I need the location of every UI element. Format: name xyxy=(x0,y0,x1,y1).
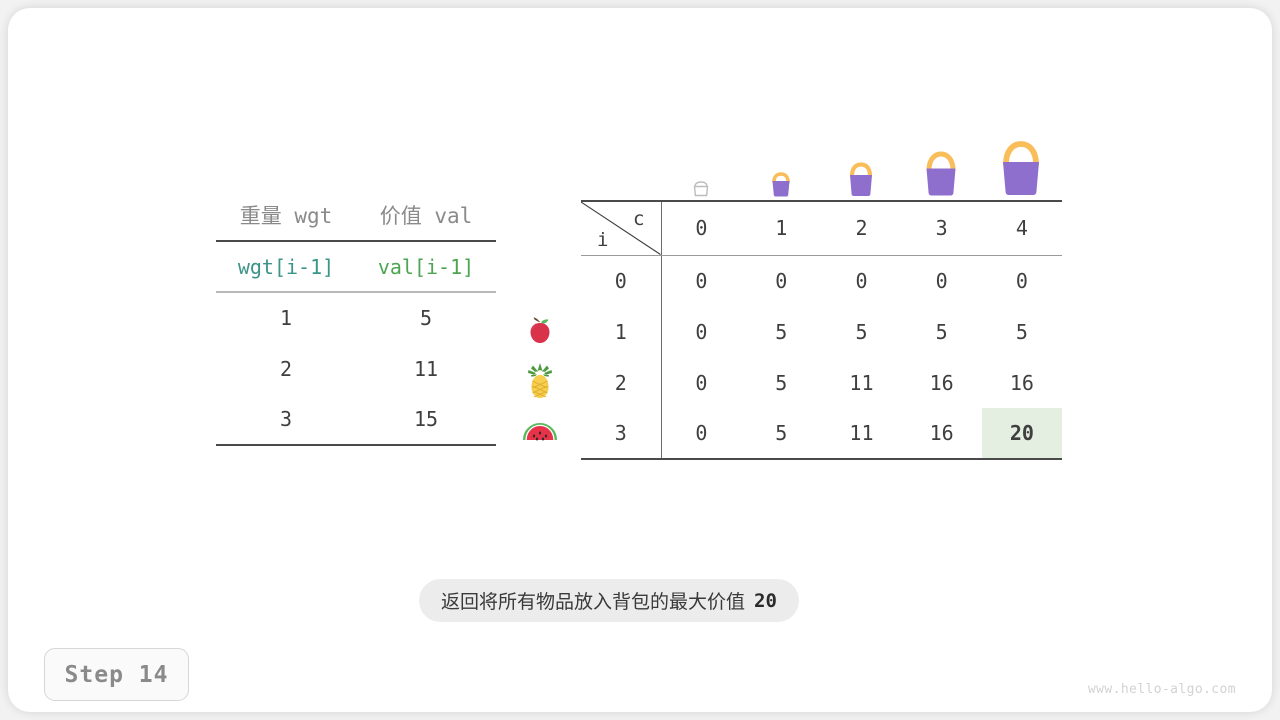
fruit-slot-3 xyxy=(514,406,566,457)
dp-cell-3-3: 16 xyxy=(902,408,982,459)
dp-corner-col-label: c xyxy=(633,208,644,230)
dp-cell-2-3: 16 xyxy=(902,357,982,408)
fruit-slot-2 xyxy=(514,355,566,406)
dp-col-header-2: 2 xyxy=(821,201,901,255)
item-val-2: 11 xyxy=(356,343,496,394)
watermelon-icon xyxy=(521,419,559,445)
dp-col-header-0: 0 xyxy=(661,201,741,255)
item-table-index-wgt: wgt[i-1] xyxy=(216,241,356,292)
bag-slot-3 xyxy=(901,142,981,198)
dp-corner-cell: c i xyxy=(581,201,661,255)
item-wgt-2: 2 xyxy=(216,343,356,394)
dp-cell-2-4: 16 xyxy=(982,357,1062,408)
bag-icon xyxy=(837,154,885,198)
item-table: 重量 wgt 价值 val wgt[i-1] val[i-1] 1 5 2 11… xyxy=(216,190,496,446)
dp-row-header-1: 1 xyxy=(581,306,661,357)
watermark: www.hello-algo.com xyxy=(1088,682,1236,697)
bag-slot-0 xyxy=(661,178,741,198)
table-row: 1 5 xyxy=(216,292,496,343)
dp-cell-3-0: 0 xyxy=(661,408,741,459)
dp-row-header-2: 2 xyxy=(581,357,661,408)
dp-cell-0-3: 0 xyxy=(902,255,982,306)
dp-cell-1-3: 5 xyxy=(902,306,982,357)
table-row: 2 0 5 11 16 16 xyxy=(581,357,1062,408)
dp-cell-2-2: 11 xyxy=(821,357,901,408)
bag-icon xyxy=(762,164,800,198)
item-icon-column xyxy=(514,304,566,457)
dp-corner-row-label: i xyxy=(597,229,608,251)
item-val-3: 15 xyxy=(356,394,496,445)
dp-cell-3-2: 11 xyxy=(821,408,901,459)
item-table-header-row: 重量 wgt 价值 val xyxy=(216,190,496,241)
table-row: 0 0 0 0 0 0 xyxy=(581,255,1062,306)
dp-cell-0-4: 0 xyxy=(982,255,1062,306)
dp-cell-1-0: 0 xyxy=(661,306,741,357)
bag-slot-2 xyxy=(821,154,901,198)
dp-cell-1-1: 5 xyxy=(741,306,821,357)
table-row: 3 0 5 11 16 20 xyxy=(581,408,1062,459)
result-caption: 返回将所有物品放入背包的最大价值 20 xyxy=(419,579,799,622)
fruit-slot-1 xyxy=(514,304,566,355)
diagram-canvas: 重量 wgt 价值 val wgt[i-1] val[i-1] 1 5 2 11… xyxy=(8,8,1272,712)
capacity-bag-row xyxy=(661,126,1062,198)
result-caption-text: 返回将所有物品放入背包的最大价值 xyxy=(441,587,745,614)
bag-slot-1 xyxy=(741,164,821,198)
bag-slot-4 xyxy=(981,130,1061,198)
item-table-header-wgt: 重量 wgt xyxy=(216,190,356,241)
item-wgt-3: 3 xyxy=(216,394,356,445)
bag-icon xyxy=(911,142,971,198)
dp-cell-1-2: 5 xyxy=(821,306,901,357)
dp-cell-0-1: 0 xyxy=(741,255,821,306)
dp-row-header-3: 3 xyxy=(581,408,661,459)
table-row: 3 15 xyxy=(216,394,496,445)
result-caption-value: 20 xyxy=(754,590,777,612)
bag-icon xyxy=(985,130,1057,198)
dp-row-header-0: 0 xyxy=(581,255,661,306)
dp-table: c i 0 1 2 3 4 0 0 0 0 0 0 1 0 5 xyxy=(581,200,1062,460)
dp-cell-0-0: 0 xyxy=(661,255,741,306)
dp-cell-2-0: 0 xyxy=(661,357,741,408)
item-val-1: 5 xyxy=(356,292,496,343)
pineapple-icon xyxy=(523,362,557,400)
step-badge: Step 14 xyxy=(44,648,189,701)
dp-table-header-row: c i 0 1 2 3 4 xyxy=(581,201,1062,255)
step-badge-label: Step 14 xyxy=(65,662,169,688)
dp-cell-3-4-highlighted: 20 xyxy=(982,408,1062,459)
item-table-index-val: val[i-1] xyxy=(356,241,496,292)
dp-col-header-3: 3 xyxy=(902,201,982,255)
table-row: 1 0 5 5 5 5 xyxy=(581,306,1062,357)
bag-empty-icon xyxy=(690,178,712,198)
dp-cell-1-4: 5 xyxy=(982,306,1062,357)
dp-cell-2-1: 5 xyxy=(741,357,821,408)
dp-cell-0-2: 0 xyxy=(821,255,901,306)
dp-cell-3-1: 5 xyxy=(741,408,821,459)
item-wgt-1: 1 xyxy=(216,292,356,343)
dp-col-header-4: 4 xyxy=(982,201,1062,255)
item-table-header-val: 价值 val xyxy=(356,190,496,241)
dp-col-header-1: 1 xyxy=(741,201,821,255)
apple-icon xyxy=(523,313,557,347)
item-table-index-row: wgt[i-1] val[i-1] xyxy=(216,241,496,292)
table-row: 2 11 xyxy=(216,343,496,394)
